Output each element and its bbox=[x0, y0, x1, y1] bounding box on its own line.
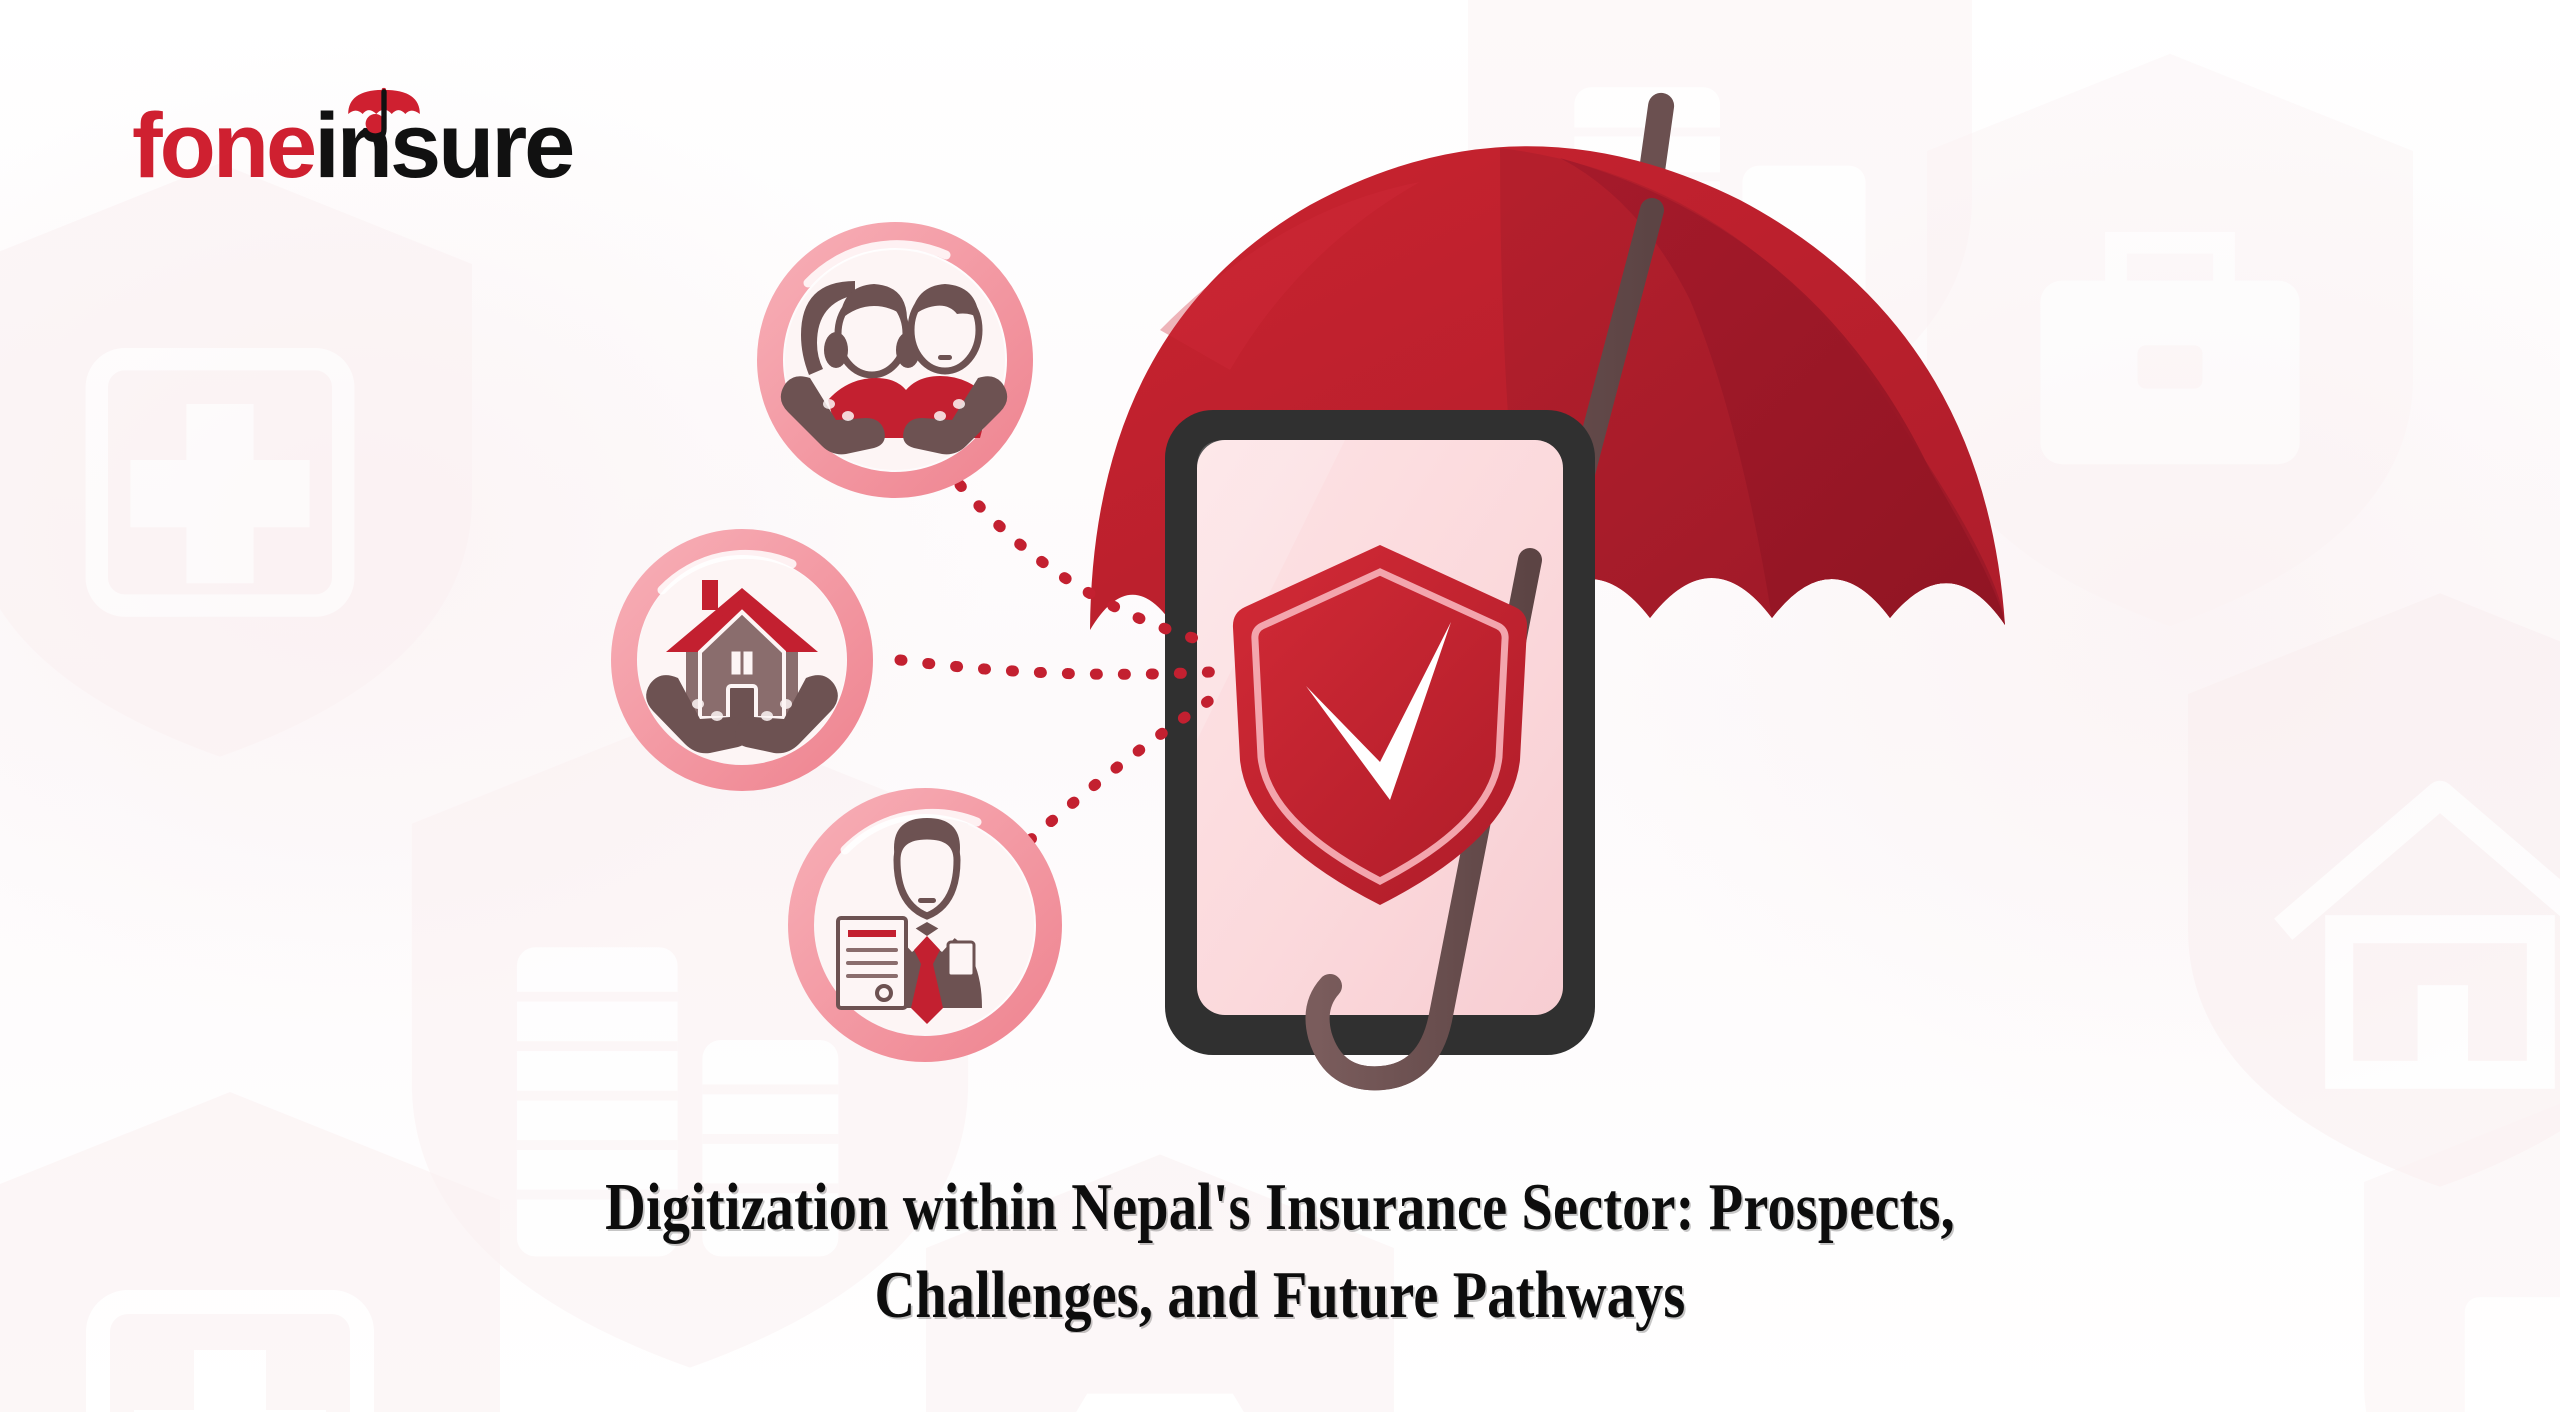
watermark-shield-coins-bottom-right bbox=[2340, 1080, 2560, 1412]
feature-icon-home-protection bbox=[624, 542, 860, 778]
connector-home bbox=[900, 660, 1210, 674]
page-title-line-2: Challenges, and Future Pathways bbox=[875, 1258, 1686, 1332]
feature-icon-insurance-agent bbox=[801, 801, 1049, 1049]
hero-banner: fone insure bbox=[0, 0, 2560, 1412]
page-title: Digitization within Nepal's Insurance Se… bbox=[205, 1163, 2355, 1340]
hero-illustration bbox=[0, 0, 2560, 1120]
page-title-line-1: Digitization within Nepal's Insurance Se… bbox=[605, 1170, 1955, 1244]
feature-icon-family-protection bbox=[770, 235, 1020, 485]
